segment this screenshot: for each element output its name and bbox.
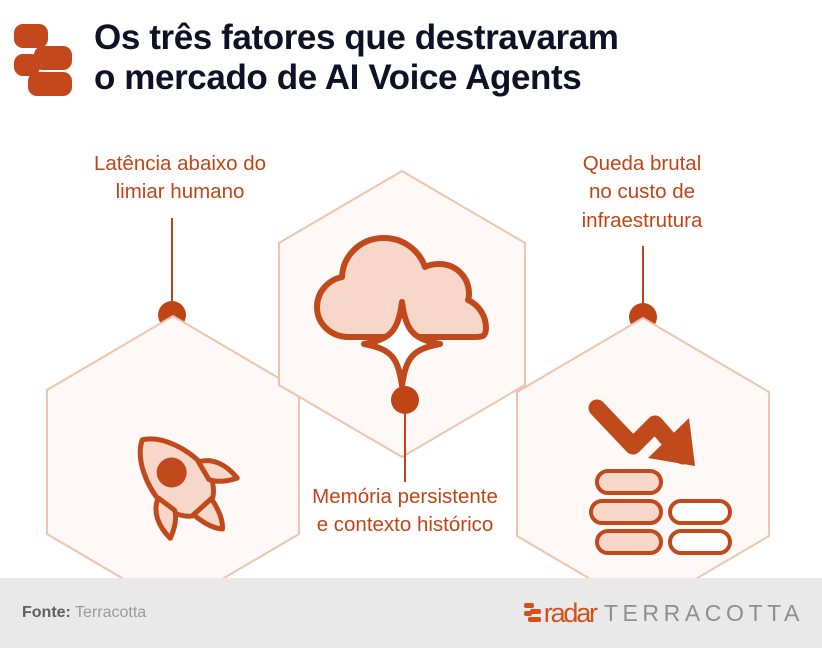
radar-wordmark-text: radar	[544, 600, 596, 627]
radar-z-mark-small-icon	[524, 602, 541, 624]
caption-cost-line-3: infraestrutura	[442, 207, 822, 235]
factors-diagram: Latência abaixo do limiar humano	[0, 128, 822, 573]
terracotta-wordmark-text: TERRACOTTA	[604, 602, 804, 625]
hexagon-latency[interactable]	[45, 314, 301, 610]
radar-logo: radar	[524, 600, 596, 627]
source-label: Fonte:	[22, 604, 71, 621]
page-title-line-2: o mercado de AI Voice Agents	[94, 58, 619, 98]
caption-cost: Queda brutal no custo de infraestrutura	[442, 150, 822, 235]
footer: Fonte: Terracotta radar TERRACOTTA	[0, 578, 822, 648]
radar-z-mark-icon	[12, 22, 74, 98]
source-value: Terracotta	[75, 604, 146, 621]
source-attribution: Fonte: Terracotta	[22, 604, 146, 622]
page-title-line-1: Os três fatores que destravaram	[94, 18, 619, 58]
connector-line-cost	[642, 246, 644, 310]
caption-cost-line-1: Queda brutal	[442, 150, 822, 178]
hexagon-cost[interactable]	[515, 316, 771, 612]
page-title: Os três fatores que destravaram o mercad…	[94, 18, 619, 97]
connector-line-latency	[171, 218, 173, 310]
connector-line-memory	[404, 410, 406, 482]
header: Os três fatores que destravaram o mercad…	[0, 0, 822, 128]
caption-cost-line-2: no custo de	[442, 178, 822, 206]
footer-brand: radar TERRACOTTA	[524, 600, 804, 627]
